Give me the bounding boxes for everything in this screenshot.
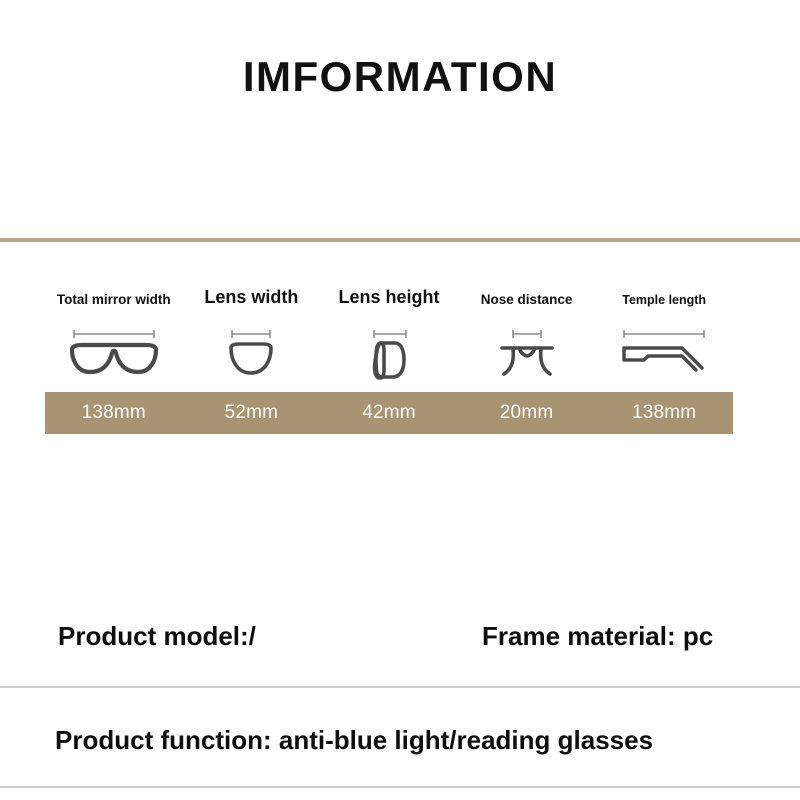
- spec-label: Nose distance: [481, 293, 573, 308]
- spec-value-bar: 138mm 52mm 42mm 20mm 138mm: [45, 392, 733, 434]
- spec-icon-cell-lens-height: [320, 324, 458, 384]
- spec-label: Total mirror width: [57, 293, 171, 308]
- spec-label-row: Total mirror width Lens width Lens heigh…: [45, 272, 733, 308]
- detail-row-function: Product function: anti-blue light/readin…: [0, 712, 800, 768]
- detail-row-model-material: Product model:/ Frame material: pc: [0, 608, 800, 664]
- spec-col-total-mirror-width: Total mirror width: [45, 272, 183, 308]
- spec-value: 20mm: [500, 402, 554, 424]
- product-function-text: Product function: anti-blue light/readin…: [55, 727, 653, 753]
- spec-icon-cell-nose-distance: [458, 324, 596, 384]
- spec-col-lens-width: Lens width: [183, 272, 321, 308]
- spec-col-nose-distance: Nose distance: [458, 272, 596, 308]
- spec-value: 42mm: [362, 402, 416, 424]
- spec-value-cell-total-mirror-width: 138mm: [45, 392, 183, 434]
- page-title: IMFORMATION: [0, 56, 800, 98]
- spec-icon-row: [45, 324, 733, 384]
- spec-value: 138mm: [82, 402, 146, 424]
- temple-arm-icon: [618, 326, 710, 384]
- gray-divider-rule-bottom: [0, 786, 800, 788]
- spec-col-temple-length: Temple length: [595, 272, 733, 308]
- spec-label: Lens height: [338, 288, 439, 308]
- tan-divider-rule: [0, 238, 800, 242]
- specifications-table: Total mirror width Lens width Lens heigh…: [45, 272, 733, 434]
- glasses-front-icon: [66, 326, 162, 384]
- lens-height-icon: [354, 326, 424, 384]
- spec-col-lens-height: Lens height: [320, 272, 458, 308]
- spec-value-cell-lens-height: 42mm: [320, 392, 458, 434]
- product-model-text: Product model:/: [58, 623, 256, 649]
- spec-icon-cell-temple-length: [595, 324, 733, 384]
- spec-label: Lens width: [204, 288, 298, 308]
- nose-bridge-icon: [492, 326, 562, 384]
- spec-icon-cell-lens-width: [183, 324, 321, 384]
- spec-label: Temple length: [622, 294, 706, 308]
- spec-value-cell-lens-width: 52mm: [183, 392, 321, 434]
- spec-icon-cell-total-mirror-width: [45, 324, 183, 384]
- spec-value-cell-temple-length: 138mm: [595, 392, 733, 434]
- spec-value: 138mm: [632, 402, 696, 424]
- spec-value: 52mm: [225, 402, 279, 424]
- frame-material-text: Frame material: pc: [482, 623, 713, 649]
- spec-value-cell-nose-distance: 20mm: [458, 392, 596, 434]
- title-block: IMFORMATION: [0, 56, 800, 98]
- lens-width-icon: [216, 326, 286, 384]
- gray-divider-rule-middle: [0, 686, 800, 688]
